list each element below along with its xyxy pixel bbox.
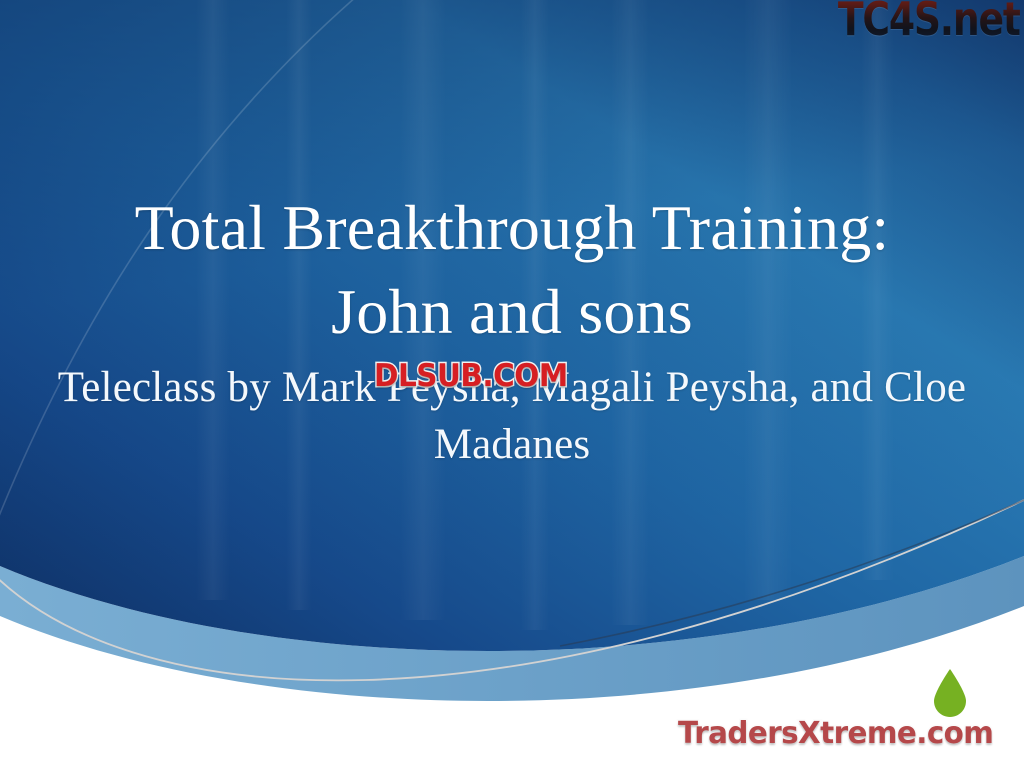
watermark-tradersxtreme: TradersXtreme.com <box>678 716 993 751</box>
title-block: Total Breakthrough Training: John and so… <box>0 186 1024 473</box>
water-drop-icon <box>928 668 972 718</box>
watermark-dlsub: DLSUB.COM <box>374 358 568 394</box>
presentation-slide: Total Breakthrough Training: John and so… <box>0 0 1024 768</box>
slide-title: Total Breakthrough Training: John and so… <box>0 186 1024 355</box>
watermark-tc4s: TC4S.net <box>838 0 1020 46</box>
